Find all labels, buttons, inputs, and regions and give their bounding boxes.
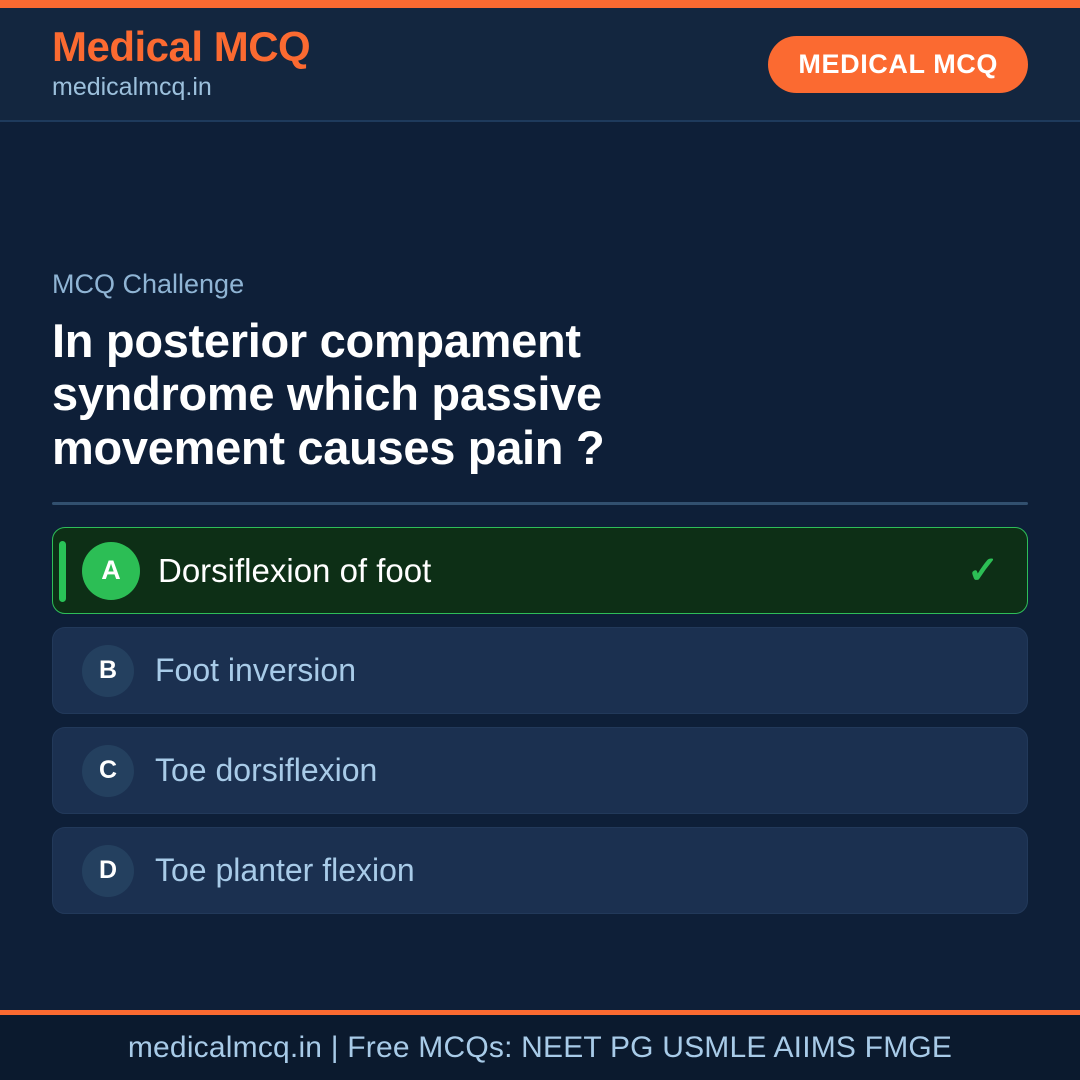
option-a-letter: A xyxy=(82,542,140,600)
option-c[interactable]: C Toe dorsiflexion xyxy=(52,727,1028,814)
top-spacer xyxy=(52,122,1028,270)
option-a-text: Dorsiflexion of foot xyxy=(158,553,967,589)
option-b-text: Foot inversion xyxy=(155,653,999,688)
option-b-letter: B xyxy=(82,645,134,697)
footer-text: medicalmcq.in | Free MCQs: NEET PG USMLE… xyxy=(128,1031,952,1065)
option-a[interactable]: A Dorsiflexion of foot ✓ xyxy=(52,527,1028,614)
option-d[interactable]: D Toe planter flexion xyxy=(52,827,1028,914)
footer-bar: medicalmcq.in | Free MCQs: NEET PG USMLE… xyxy=(0,1015,1080,1080)
brand-badge: MEDICAL MCQ xyxy=(768,36,1028,93)
top-accent-bar xyxy=(0,0,1080,8)
brand: Medical MCQ medicalmcq.in xyxy=(52,25,310,103)
option-c-text: Toe dorsiflexion xyxy=(155,753,999,788)
option-b[interactable]: B Foot inversion xyxy=(52,627,1028,714)
question-text: In posterior compament syndrome which pa… xyxy=(52,314,812,475)
option-d-text: Toe planter flexion xyxy=(155,853,999,888)
brand-title: Medical MCQ xyxy=(52,25,310,69)
options-list: A Dorsiflexion of foot ✓ B Foot inversio… xyxy=(52,527,1028,914)
mcq-card: Medical MCQ medicalmcq.in MEDICAL MCQ MC… xyxy=(0,0,1080,1080)
question-divider xyxy=(52,502,1028,505)
section-eyebrow: MCQ Challenge xyxy=(52,270,1028,300)
option-c-letter: C xyxy=(82,745,134,797)
checkmark-icon: ✓ xyxy=(967,552,999,590)
page-header: Medical MCQ medicalmcq.in MEDICAL MCQ xyxy=(0,8,1080,122)
main-content: MCQ Challenge In posterior compament syn… xyxy=(0,122,1080,1010)
brand-subtitle: medicalmcq.in xyxy=(52,72,310,103)
option-d-letter: D xyxy=(82,845,134,897)
page-footer: medicalmcq.in | Free MCQs: NEET PG USMLE… xyxy=(0,1010,1080,1080)
